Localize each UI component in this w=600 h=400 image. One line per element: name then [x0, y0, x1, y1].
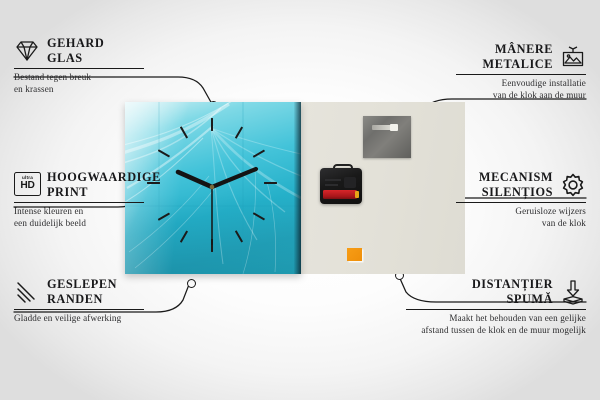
feature-header: MECANISMSILENȚIOS [456, 170, 586, 199]
ultra-hd-icon: ultra HD [14, 172, 40, 198]
feature-header: MÂNEREMETALICE [456, 42, 586, 71]
minute-hand [212, 169, 256, 187]
marker-geslepen-randen [187, 279, 196, 288]
feature-gehard-glas: GEHARDGLAS Bestand tegen breuken krassen [14, 36, 144, 95]
feature-desc: Gladde en veilige afwerking [14, 313, 144, 324]
hand-pivot [210, 185, 215, 190]
picture-frame-icon [560, 44, 586, 70]
hour-hand [178, 172, 212, 187]
feature-rule [14, 68, 144, 69]
feature-title: GESLEPENRANDEN [47, 277, 117, 306]
diamond-icon [14, 38, 40, 64]
feature-header: GESLEPENRANDEN [14, 277, 144, 306]
bevelled-edge-icon [14, 279, 40, 305]
feature-title: HOOGWAARDIGEPRINT [47, 170, 161, 199]
battery [323, 190, 357, 199]
feature-desc: Geruisloze wijzersvan de klok [456, 206, 586, 229]
feature-header: GEHARDGLAS [14, 36, 144, 65]
feature-rule [406, 309, 586, 310]
feature-rule [14, 202, 144, 203]
feature-desc: Intense kleuren eneen duidelijk beeld [14, 206, 144, 229]
feature-distantier-spuma: DISTANȚIERSPUMĂ Maakt het behouden van e… [406, 277, 586, 336]
feature-manere-metalice: MÂNEREMETALICE Eenvoudige installatievan… [456, 42, 586, 101]
product-image [125, 102, 465, 274]
feature-header: ultra HD HOOGWAARDIGEPRINT [14, 170, 144, 199]
infographic-canvas: GEHARDGLAS Bestand tegen breuken krassen… [0, 0, 600, 400]
mechanism-slot-2 [325, 184, 338, 186]
feature-rule [456, 74, 586, 75]
feature-rule [456, 202, 586, 203]
clock-mechanism [320, 164, 362, 204]
feature-geslepen-randen: GESLEPENRANDEN Gladde en veilige afwerki… [14, 277, 144, 325]
feature-title: MÂNEREMETALICE [483, 42, 553, 71]
foam-spacer [347, 248, 362, 261]
ultra-hd-icon-main-label: HD [20, 181, 34, 191]
metal-hanger [363, 116, 411, 158]
feature-desc: Maakt het behouden van een gelijkeafstan… [406, 313, 586, 336]
hanger-slot [372, 125, 398, 130]
feature-rule [14, 309, 144, 310]
feature-title: GEHARDGLAS [47, 36, 104, 65]
gear-icon [560, 172, 586, 198]
feature-desc: Eenvoudige installatievan de klok aan de… [456, 78, 586, 101]
spacer-arrow-icon [560, 279, 586, 305]
mechanism-slot-1 [325, 179, 341, 181]
feature-title: DISTANȚIERSPUMĂ [472, 277, 553, 306]
feature-hoogwaardige-print: ultra HD HOOGWAARDIGEPRINT Intense kleur… [14, 170, 144, 229]
feature-desc: Bestand tegen breuken krassen [14, 72, 144, 95]
feature-header: DISTANȚIERSPUMĂ [406, 277, 586, 306]
feature-title: MECANISMSILENȚIOS [479, 170, 553, 199]
mechanism-dial [344, 177, 356, 188]
feature-mecanism-silentios: MECANISMSILENȚIOS Geruisloze wijzersvan … [456, 170, 586, 229]
